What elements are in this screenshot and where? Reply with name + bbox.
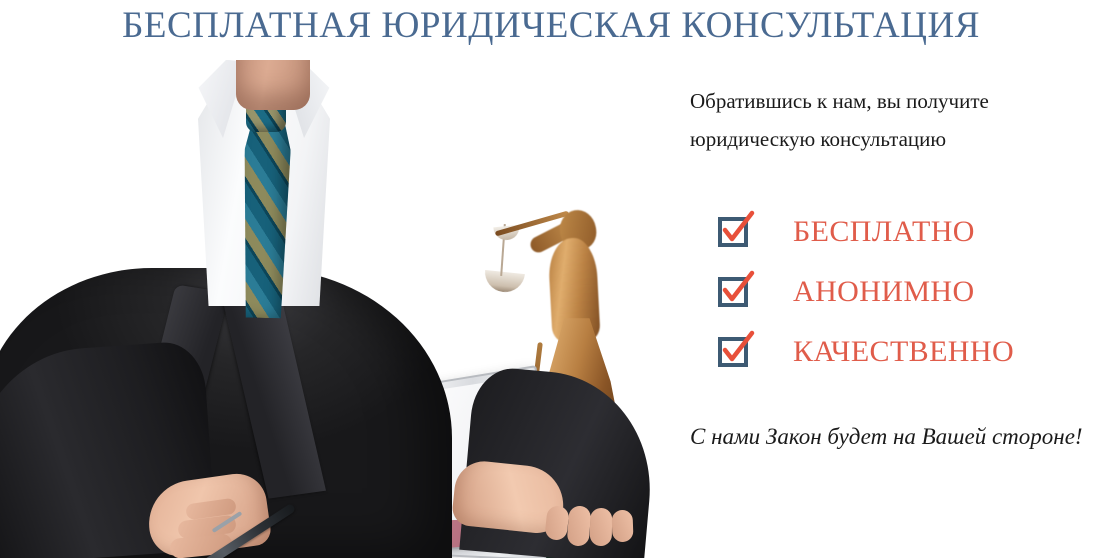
benefit-item-anonymous: АНОНИМНО	[690, 262, 1090, 322]
finger	[611, 510, 633, 543]
finger	[567, 505, 592, 546]
checkbox-checked-icon	[718, 277, 748, 307]
intro-paragraph: Обратившись к нам, вы получите юридическ…	[690, 82, 1090, 158]
lawyer-photo	[0, 60, 660, 558]
checkmark-icon	[716, 271, 756, 311]
benefits-list: БЕСПЛАТНО АНОНИМНО КАЧЕСТВ	[690, 202, 1090, 382]
benefit-item-free: БЕСПЛАТНО	[690, 202, 1090, 262]
benefit-label: АНОНИМНО	[793, 275, 975, 309]
finger	[590, 508, 613, 546]
benefit-label: БЕСПЛАТНО	[793, 215, 975, 249]
benefit-item-quality: КАЧЕСТВЕННО	[690, 322, 1090, 382]
intro-line-2: юридическую консультацию	[690, 120, 1090, 158]
checkmark-icon	[716, 331, 756, 371]
tagline: С нами Закон будет на Вашей стороне!	[690, 424, 1090, 450]
checkmark-icon	[716, 211, 756, 251]
page-title: БЕСПЛАТНАЯ ЮРИДИЧЕСКАЯ КОНСУЛЬТАЦИЯ	[0, 4, 1102, 48]
neck	[236, 60, 310, 110]
legal-consultation-banner: БЕСПЛАТНАЯ ЮРИДИЧЕСКАЯ КОНСУЛЬТАЦИЯ	[0, 0, 1102, 558]
checkbox-checked-icon	[718, 337, 748, 367]
intro-line-1: Обратившись к нам, вы получите	[690, 82, 1090, 120]
scale-pan-left	[483, 270, 525, 294]
content-column: Обратившись к нам, вы получите юридическ…	[690, 82, 1090, 450]
checkbox-checked-icon	[718, 217, 748, 247]
benefit-label: КАЧЕСТВЕННО	[793, 335, 1014, 369]
